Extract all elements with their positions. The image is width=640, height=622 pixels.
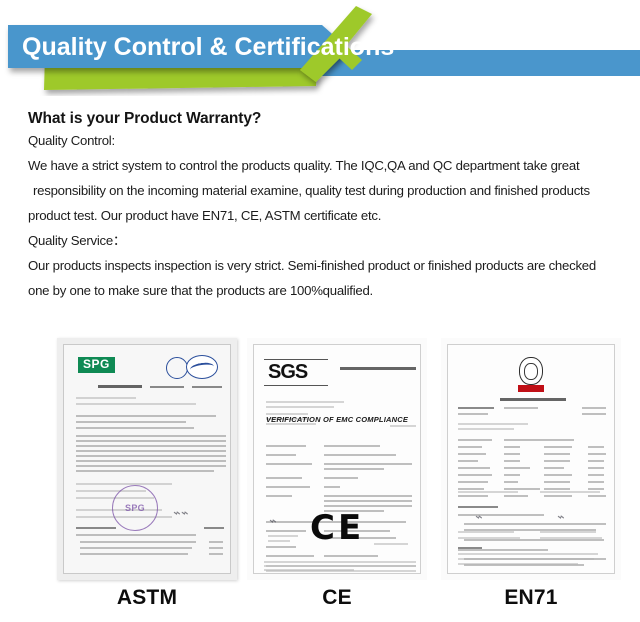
- text-line: Quality Control:: [28, 128, 640, 153]
- text-line: product test. Our product have EN71, CE,…: [28, 203, 640, 228]
- accreditation-badge-icon: [186, 355, 218, 379]
- caption-astm: ASTM: [57, 586, 237, 610]
- page-banner: Quality Control & Certifications: [0, 0, 640, 96]
- certificate-page: SGS VERIFICATION OF EMC COMPLIANCE: [253, 344, 421, 574]
- warranty-content: What is your Product Warranty? Quality C…: [0, 96, 640, 303]
- signature-icon: ⌁: [556, 509, 564, 525]
- certificate-captions: ASTM CE EN71: [0, 586, 640, 622]
- certificate-doc-title: VERIFICATION OF EMC COMPLIANCE: [254, 415, 420, 424]
- signature-icon: ⌁⌁: [172, 505, 188, 521]
- banner-graphic: Quality Control & Certifications: [0, 0, 640, 96]
- red-banner-icon: [518, 385, 544, 392]
- signature-icon: ⌁: [474, 509, 482, 525]
- text-line: We have a strict system to control the p…: [28, 153, 640, 178]
- crest-logo-icon: [519, 357, 543, 385]
- certificate-page: SPG: [63, 344, 231, 574]
- accreditation-badge-icon: [166, 357, 188, 379]
- text-line: responsibility on the incoming material …: [28, 178, 640, 203]
- warranty-paragraphs: Quality Control: We have a strict system…: [0, 128, 640, 303]
- text-line: Our products inspects inspection is very…: [28, 253, 640, 278]
- spg-seal-stamp: SPG: [112, 485, 158, 531]
- banner-title: Quality Control & Certifications: [22, 33, 394, 61]
- certificate-gallery: SPG: [0, 338, 640, 588]
- page-title: What is your Product Warranty?: [28, 110, 640, 128]
- caption-en71: EN71: [441, 586, 621, 610]
- text-line: one by one to make sure that the product…: [28, 278, 640, 303]
- spg-logo: SPG: [78, 357, 115, 373]
- caption-ce: CE: [247, 586, 427, 610]
- sgs-logo: SGS: [268, 361, 307, 384]
- signature-icon: ⌁: [268, 513, 276, 529]
- ce-mark-icon: CE: [310, 511, 364, 545]
- certificate-image-astm[interactable]: SPG: [57, 338, 237, 580]
- certificate-image-ce[interactable]: SGS VERIFICATION OF EMC COMPLIANCE: [247, 338, 427, 580]
- certificate-page: ⌁ ⌁: [447, 344, 615, 574]
- certificate-image-en71[interactable]: ⌁ ⌁: [441, 338, 621, 580]
- text-line: Quality Service：: [28, 228, 640, 253]
